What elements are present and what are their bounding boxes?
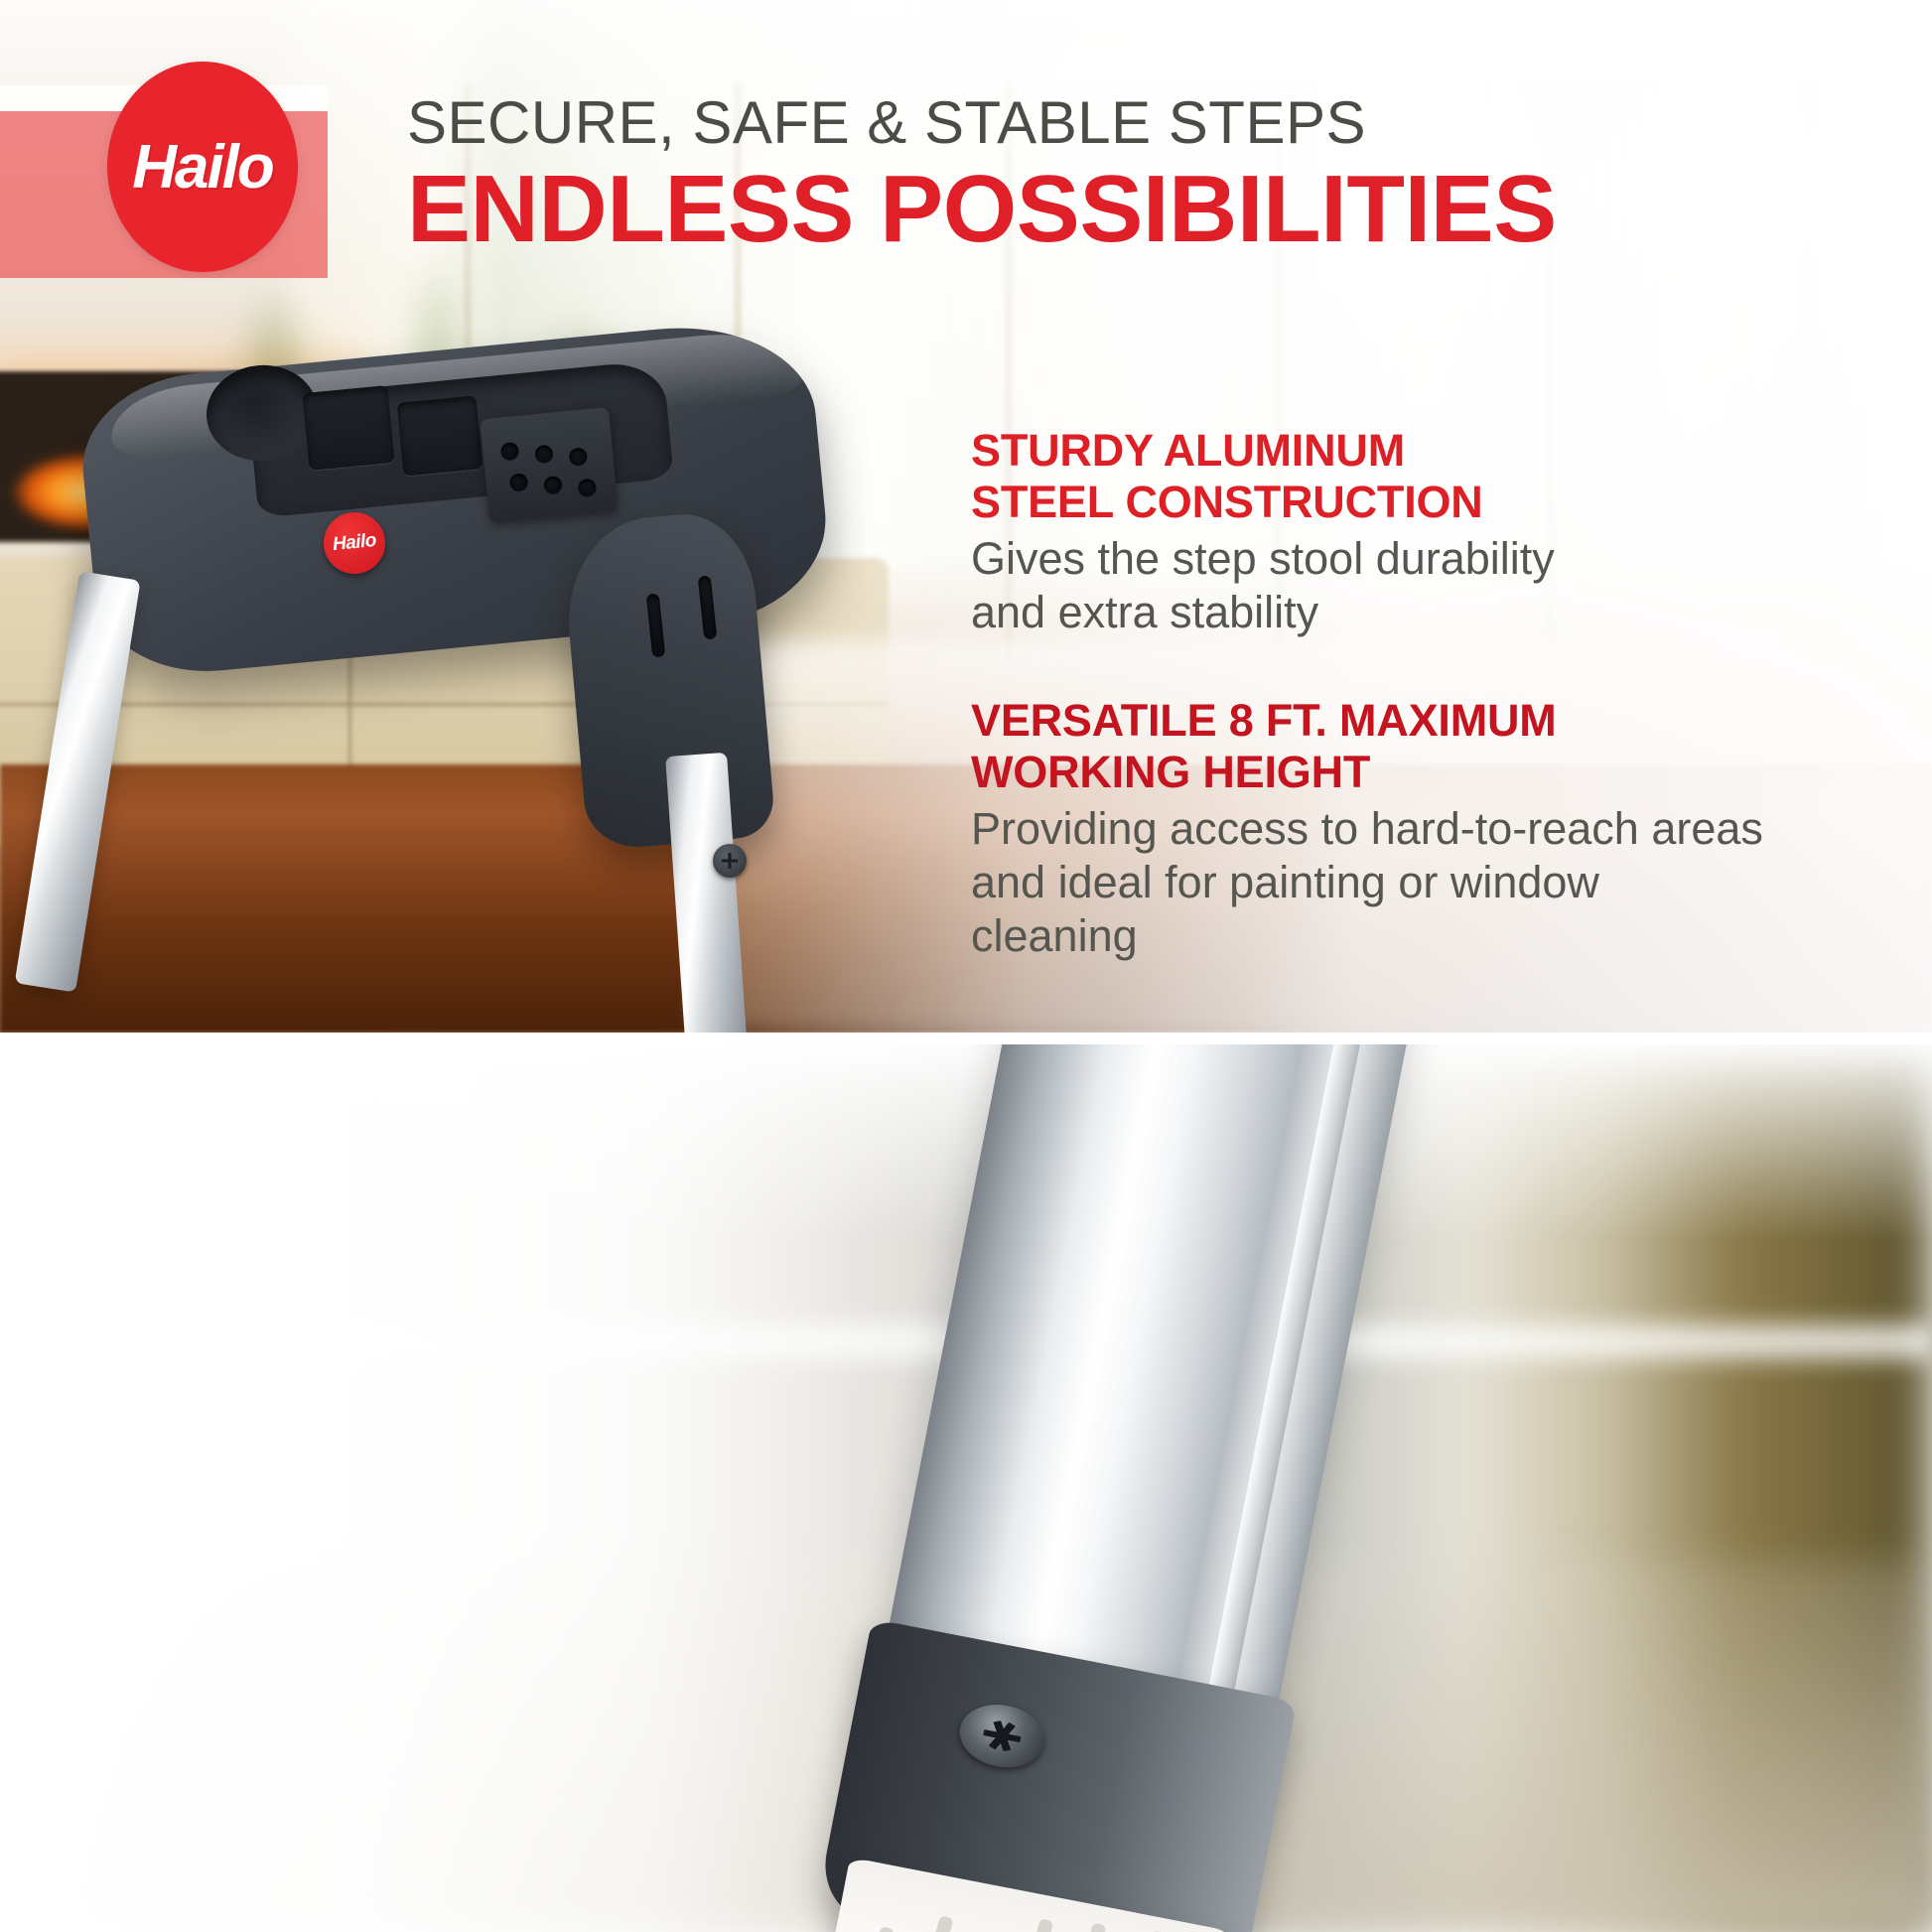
tray-slot (397, 395, 483, 476)
feature-working-height: VERSATILE 8 FT. MAXIMUM WORKING HEIGHT P… (971, 695, 1765, 963)
feature-title: STURDY ALUMINUM STEEL CONSTRUCTION (971, 425, 1725, 528)
bit-hole (534, 445, 554, 465)
feature-title: VERSATILE 8 FT. MAXIMUM WORKING HEIGHT (971, 695, 1765, 798)
step-stool-top-rail-photo: Hailo (58, 328, 882, 923)
feature-title-line1: STURDY ALUMINUM (971, 425, 1405, 476)
feature-sturdy-aluminum: STURDY ALUMINUM STEEL CONSTRUCTION Gives… (971, 425, 1725, 639)
bit-hole (500, 442, 520, 462)
bit-hole (509, 473, 529, 492)
tray-bit-holder (480, 407, 618, 522)
bottom-photo-panel: PLASTIC FEET WITH SOFT-GRIP SOLES Provid… (0, 1044, 1932, 1932)
sole-rib (1058, 1923, 1106, 1932)
header-text-block: SECURE, SAFE & STABLE STEPS ENDLESS POSS… (407, 91, 1579, 258)
bit-hole (569, 447, 589, 467)
feature-body-line1: Providing access to hard-to-reach areas (971, 803, 1763, 854)
top-photo-panel: Hailo Hailo SECURE, SAFE & STABLE STEPS … (0, 0, 1932, 1033)
tray-slot (302, 385, 394, 471)
feature-body-line2: and extra stability (971, 587, 1318, 637)
hailo-product-badge-label: Hailo (332, 530, 377, 556)
leg-screw (713, 844, 747, 878)
sole-rib (995, 1918, 1054, 1932)
feature-title-line2: WORKING HEIGHT (971, 747, 1370, 797)
headline: ENDLESS POSSIBILITIES (407, 161, 1579, 258)
sole-rib (829, 1926, 895, 1932)
feature-body-line1: Gives the step stool durability (971, 533, 1555, 584)
bit-hole (543, 476, 563, 495)
feature-body: Gives the step stool durability and extr… (971, 532, 1725, 639)
bit-hole (578, 479, 598, 498)
tagline: SECURE, SAFE & STABLE STEPS (407, 91, 1579, 155)
sole-rib (887, 1915, 953, 1932)
feature-title-line1: VERSATILE 8 FT. MAXIMUM (971, 695, 1557, 746)
hailo-logo-label: Hailo (132, 132, 273, 203)
infographic-poster: Hailo Hailo SECURE, SAFE & STABLE STEPS … (0, 0, 1932, 1932)
hailo-logo: Hailo (107, 62, 298, 272)
feature-title-line2: STEEL CONSTRUCTION (971, 477, 1483, 527)
feature-body: Providing access to hard-to-reach areas … (971, 802, 1765, 963)
feature-body-line2: and ideal for painting or window cleanin… (971, 857, 1599, 961)
